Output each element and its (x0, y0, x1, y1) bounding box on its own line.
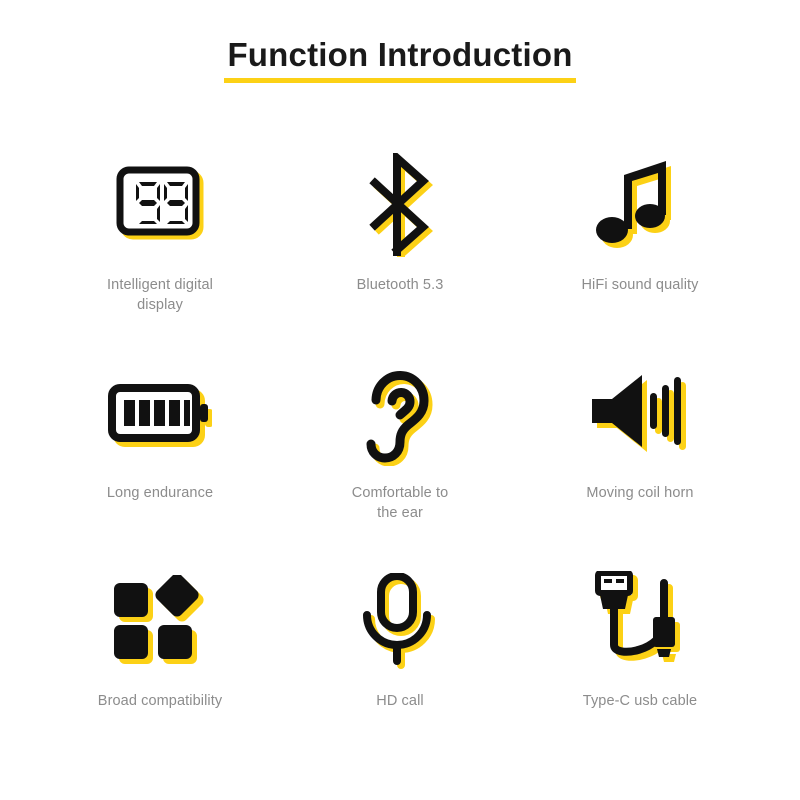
page-title-block: Function Introduction (0, 36, 800, 83)
microphone-icon (360, 556, 440, 686)
page-title-text: Function Introduction (227, 36, 572, 73)
usb-type-c-cable-icon (594, 556, 686, 686)
page-title: Function Introduction (224, 36, 575, 83)
music-note-icon (594, 140, 686, 270)
function-introduction-page: Function Introduction (0, 0, 800, 800)
digital-display-99-icon (114, 140, 206, 270)
bluetooth-icon (361, 140, 439, 270)
feature-label-line2: display (137, 297, 183, 313)
title-underline-bar (224, 78, 575, 83)
feature-cell-bluetooth: Bluetooth 5.3 (280, 140, 520, 348)
feature-cell-comfortable-to-the-ear: Comfortable to the ear (280, 348, 520, 556)
feature-label-line1: HiFi sound quality (581, 277, 698, 293)
feature-label-line1: Type-C usb cable (583, 693, 697, 709)
compatibility-squares-icon (112, 556, 208, 686)
feature-caption: Broad compatibility (70, 692, 250, 712)
feature-caption: Long endurance (70, 484, 250, 504)
feature-label-line1: Long endurance (107, 485, 213, 501)
feature-label-line1: Broad compatibility (98, 693, 222, 709)
feature-cell-moving-coil-horn: Moving coil horn (520, 348, 760, 556)
feature-cell-hd-call: HD call (280, 556, 520, 764)
feature-label-line1: Intelligent digital (107, 277, 213, 293)
feature-cell-intelligent-digital-display: Intelligent digital display (40, 140, 280, 348)
feature-caption: Comfortable to the ear (310, 484, 490, 523)
feature-caption: HD call (310, 692, 490, 712)
feature-grid: Intelligent digital display Bluetooth 5.… (40, 140, 760, 764)
feature-cell-hifi-sound-quality: HiFi sound quality (520, 140, 760, 348)
feature-caption: Moving coil horn (550, 484, 730, 504)
feature-cell-type-c-usb-cable: Type-C usb cable (520, 556, 760, 764)
feature-label-line1: Comfortable to (352, 485, 449, 501)
feature-label-line2: the ear (377, 505, 423, 521)
ear-icon (358, 348, 442, 478)
feature-caption: Type-C usb cable (550, 692, 730, 712)
battery-full-icon (108, 348, 212, 478)
feature-label-line1: HD call (376, 693, 423, 709)
feature-cell-broad-compatibility: Broad compatibility (40, 556, 280, 764)
feature-label-line1: Bluetooth 5.3 (357, 277, 444, 293)
feature-caption: Bluetooth 5.3 (310, 276, 490, 296)
speaker-horn-icon (588, 348, 692, 478)
feature-label-line1: Moving coil horn (586, 485, 693, 501)
feature-caption: Intelligent digital display (70, 276, 250, 315)
feature-caption: HiFi sound quality (550, 276, 730, 296)
feature-cell-long-endurance: Long endurance (40, 348, 280, 556)
